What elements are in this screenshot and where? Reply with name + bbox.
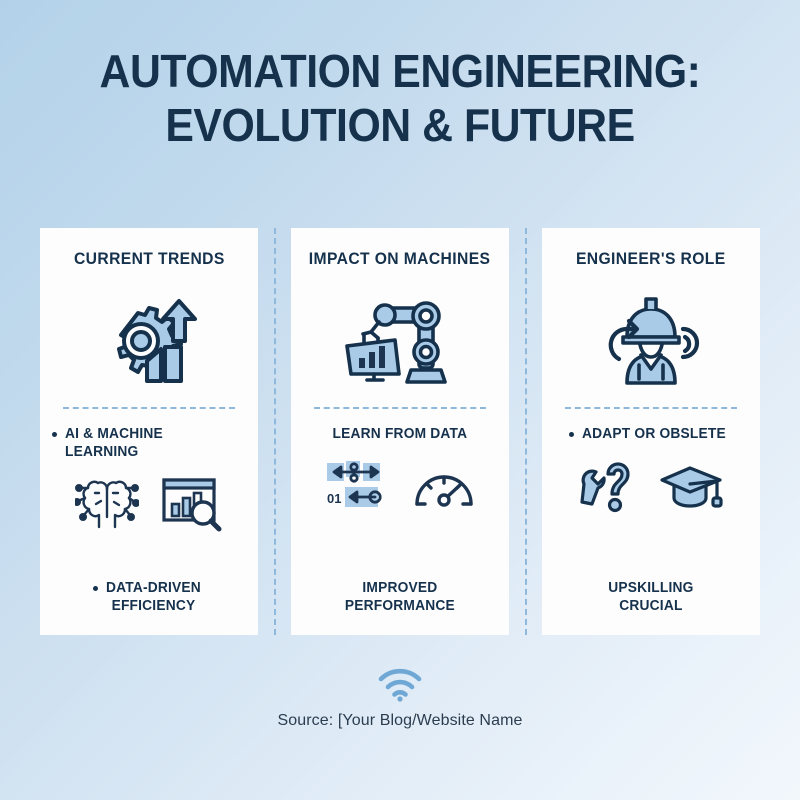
card-impact-on-machines[interactable]: IMPACT ON MACHINES [291,228,509,635]
card-divider-2 [509,228,542,635]
robot-arm-monitor-icon [345,293,455,389]
card-divider-1 [258,228,291,635]
page-title: AUTOMATION ENGINEERING: EVOLUTION & FUTU… [0,0,800,153]
bullet-dot [52,432,57,437]
card-item-top-label: ADAPT OR OBSLETE [582,425,726,443]
card-item-top-label: LEARN FROM DATA [333,425,468,443]
card-separator [565,407,737,409]
data-flow-icon: 01 [325,461,391,516]
card-title: ENGINEER'S ROLE [576,250,726,269]
card-item-top: ADAPT OR OBSLETE [569,425,733,443]
card-item-bottom: UPSKILLING CRUCIAL [606,579,696,621]
speedometer-icon [413,462,475,515]
page-title-line-2: EVOLUTION & FUTURE [28,98,772,152]
card-separator [63,407,235,409]
card-item-bottom-label: DATA-DRIVEN EFFICIENCY [106,579,201,615]
card-separator [314,407,486,409]
ai-brain-icon [75,477,139,536]
card-item-top: AI & MACHINE LEARNING [52,425,246,461]
card-item-bottom-label: IMPROVED PERFORMANCE [345,579,455,615]
card-title: IMPACT ON MACHINES [309,250,491,269]
card-mini-icons: 01 [325,457,475,519]
card-engineers-role[interactable]: ENGINEER'S ROLE [542,228,760,635]
graduation-cap-icon [660,462,724,515]
card-item-top: LEARN FROM DATA [329,425,471,443]
card-mini-icons [75,475,223,537]
chart-magnifier-icon [161,476,223,537]
card-item-bottom: DATA-DRIVEN EFFICIENCY [93,579,206,621]
footer: Source: [Your Blog/Website Name [0,668,800,730]
svg-text:01: 01 [327,491,341,506]
card-title: CURRENT TRENDS [74,250,225,269]
card-item-bottom: IMPROVED PERFORMANCE [342,579,458,621]
wifi-icon [0,668,800,702]
card-item-top-label: AI & MACHINE LEARNING [65,425,237,461]
card-mini-icons [578,457,724,519]
cards-row: CURRENT TRENDS AI & MACHINE LEARNING [40,228,760,635]
source-label: Source: [Your Blog/Website Name [0,712,800,730]
gear-growth-arrow-icon [97,293,201,389]
page-title-line-1: AUTOMATION ENGINEERING: [28,44,772,98]
bullet-dot [569,432,574,437]
card-item-bottom-label: UPSKILLING CRUCIAL [608,579,693,615]
card-current-trends[interactable]: CURRENT TRENDS AI & MACHINE LEARNING [40,228,258,635]
engineer-hardhat-icon [597,293,705,389]
wrench-question-icon [578,458,638,519]
bullet-dot [93,586,98,591]
